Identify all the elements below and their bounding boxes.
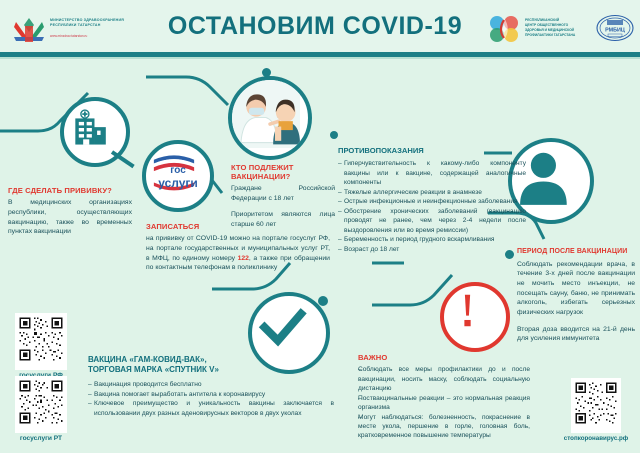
list-item: Беременность и период грудного вскармлив…	[338, 235, 526, 244]
after-text-recommendations: Соблюдать рекомендации врача, в течение …	[517, 260, 635, 318]
qr-caption: стопкоронавирус.рф	[556, 435, 636, 442]
list-item: Тяжелые аллергические реакции в анамнезе	[338, 188, 526, 197]
page-title: ОСТАНОВИМ COVID-19	[150, 12, 480, 41]
qr-code-image	[15, 313, 67, 370]
gosuslugi-logo-text: гос услуги	[146, 166, 210, 190]
contraindications-block: ПРОТИВОПОКАЗАНИЯ Гиперчувствительность к…	[338, 146, 526, 255]
after-heading: ПЕРИОД ПОСЛЕ ВАКЦИНАЦИИ	[517, 248, 635, 257]
vaccine-heading: ВАКЦИНА «ГАМ-КОВИД-ВАК», ТОРГОВАЯ МАРКА …	[88, 355, 334, 375]
who-is-eligible-block: КТО ПОДЛЕЖИТ ВАКЦИНАЦИИ? Граждане Россий…	[231, 163, 335, 230]
where-to-vaccinate-block: ГДЕ СДЕЛАТЬ ПРИВИВКУ? В медицинских орга…	[8, 186, 132, 237]
signup-heading: ЗАПИСАТЬСЯ	[146, 222, 330, 231]
contraindications-heading: ПРОТИВОПОКАЗАНИЯ	[338, 146, 526, 155]
vaccine-block: ВАКЦИНА «ГАМ-КОВИД-ВАК», ТОРГОВАЯ МАРКА …	[88, 355, 334, 418]
minzdrav-logo: МИНИСТЕРСТВО ЗДРАВООХРАНЕНИЯ РЕСПУБЛИКИ …	[12, 16, 132, 44]
list-item: Гиперчувствительность к какому-либо комп…	[338, 159, 526, 187]
rmbic-logo-label: РМБИЦ	[605, 28, 625, 34]
list-item: Поствакцинальные реакции – это нормальна…	[358, 394, 530, 412]
connector-node-3	[318, 296, 328, 306]
signup-text: на прививку от COVID-19 можно на портале…	[146, 234, 330, 273]
list-item: Вакцина помогает выработать антитела к к…	[88, 390, 334, 399]
qr-gosuslugi-rf[interactable]: госуслуги РФ	[10, 313, 72, 379]
vaccine-list: Вакцинация проводится бесплатно Вакцина …	[88, 380, 334, 418]
important-heading: ВАЖНО	[358, 353, 530, 362]
minzdrav-emblem-icon	[12, 16, 46, 44]
signup-phone-number: 122	[238, 255, 249, 262]
gosuslugi-logo: гос услуги	[142, 140, 214, 212]
who-text-citizens: Граждане Российской Федерации с 18 лет	[231, 184, 335, 203]
rcoz-logo-text: РЕСПУБЛИКАНСКИЙ ЦЕНТР ОБЩЕСТВЕННОГО ЗДОР…	[525, 18, 591, 38]
qr-code-image	[571, 378, 621, 433]
exclamation-mark-icon	[440, 282, 510, 352]
minzdrav-logo-url: www.minzdrav.tatarstan.ru	[50, 34, 132, 38]
contraindications-list: Гиперчувствительность к какому-либо комп…	[338, 159, 526, 254]
list-item: Соблюдать все меры профилактики до и пос…	[358, 365, 530, 393]
list-item: Вакцинация проводится бесплатно	[88, 380, 334, 389]
who-heading: КТО ПОДЛЕЖИТ ВАКЦИНАЦИИ?	[231, 163, 335, 182]
important-list: Соблюдать все меры профилактики до и пос…	[358, 365, 530, 440]
where-text: В медицинских организациях республики, о…	[8, 198, 132, 237]
signup-block: ЗАПИСАТЬСЯ на прививку от COVID-19 можно…	[146, 222, 330, 273]
list-item: Ключевое преимущество и уникальность вак…	[88, 399, 334, 417]
qr-caption: госуслуги РТ	[10, 435, 72, 442]
qr-code-image	[15, 376, 67, 433]
rcoz-logo: РЕСПУБЛИКАНСКИЙ ЦЕНТР ОБЩЕСТВЕННОГО ЗДОР…	[487, 13, 592, 45]
rcoz-emblem-icon	[487, 13, 521, 45]
doctor-vaccinating-patient-icon	[228, 76, 312, 160]
list-item: Могут наблюдаться: болезненность, покрас…	[358, 413, 530, 441]
where-heading: ГДЕ СДЕЛАТЬ ПРИВИВКУ?	[8, 186, 132, 195]
list-item: Острые инфекционные и неинфекционные заб…	[338, 197, 526, 206]
after-text-second-dose: Вторая доза вводится на 21-й день для ус…	[517, 325, 635, 344]
qr-gosuslugi-rt[interactable]: госуслуги РТ	[10, 376, 72, 442]
poster-root: МИНИСТЕРСТВО ЗДРАВООХРАНЕНИЯ РЕСПУБЛИКИ …	[0, 0, 640, 453]
rmbic-logo: РМБИЦ	[596, 14, 634, 42]
minzdrav-logo-text: МИНИСТЕРСТВО ЗДРАВООХРАНЕНИЯ РЕСПУБЛИКИ …	[50, 18, 132, 29]
important-block: ВАЖНО Соблюдать все меры профилактики до…	[358, 353, 530, 441]
list-item: Возраст до 18 лет	[338, 245, 526, 254]
after-vaccination-block: ПЕРИОД ПОСЛЕ ВАКЦИНАЦИИ Соблюдать рекоме…	[517, 248, 635, 344]
connector-node-5	[330, 131, 338, 139]
list-item: Обострение хронических заболеваний (вакц…	[338, 207, 526, 235]
qr-stopkoronavirus[interactable]: стопкоронавирус.рф	[556, 378, 636, 442]
